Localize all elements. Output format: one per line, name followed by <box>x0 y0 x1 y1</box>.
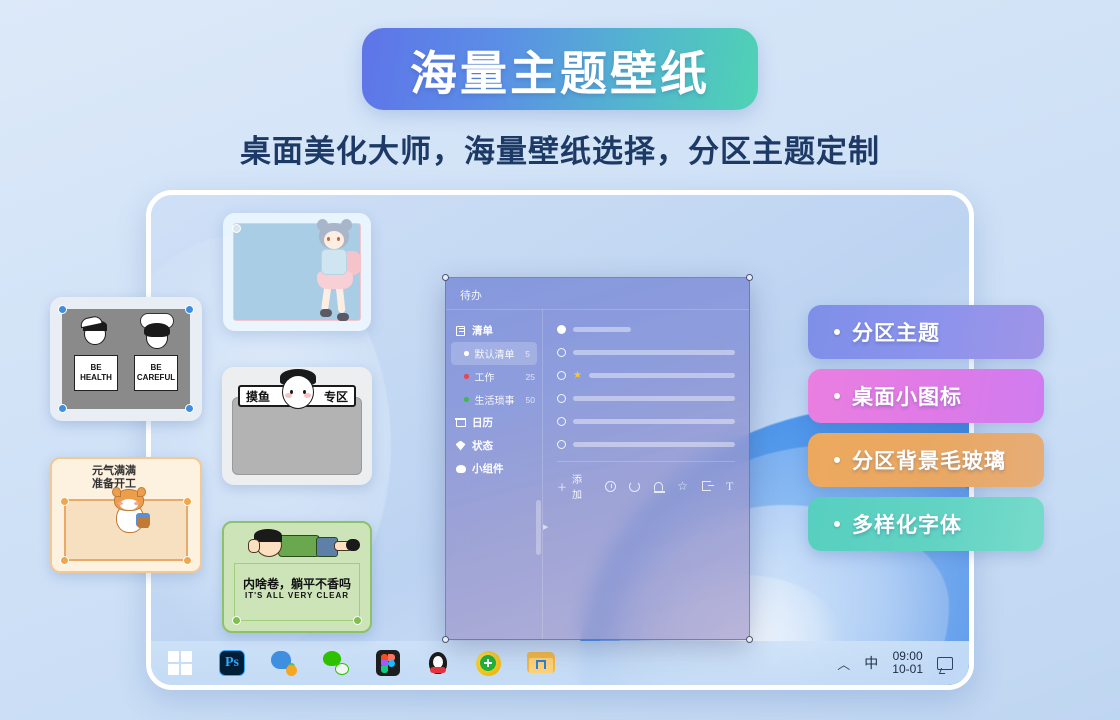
photoshop-icon[interactable]: Ps <box>219 650 245 676</box>
banner-title: 海量主题壁纸 <box>410 35 710 104</box>
moyu-right-text: 专区 <box>324 388 348 405</box>
sidebar-item-widgets[interactable]: 小组件 <box>446 457 542 480</box>
feature-pill-desktop-icons[interactable]: 桌面小图标 <box>808 369 1044 423</box>
sidebar-item-label: 日历 <box>472 415 493 430</box>
list-icon <box>455 325 466 336</box>
sticker-health-right-text: BE CAREFUL <box>134 355 178 391</box>
task-text-placeholder <box>573 442 735 447</box>
task-row[interactable] <box>557 436 735 453</box>
shiba-dog-illustration <box>110 489 150 535</box>
calendar-icon <box>455 417 466 428</box>
system-tray[interactable]: ︿ 中 09:00 10-01 <box>837 650 969 676</box>
resize-handle[interactable] <box>58 305 67 314</box>
sidebar-item-count: 5 <box>525 349 537 359</box>
list-color-dot <box>464 397 469 402</box>
photoshop-label: Ps <box>219 650 245 676</box>
sticker-anime-girl[interactable] <box>223 213 371 331</box>
sticker-tangping[interactable]: 内啥卷，躺平不香吗 IT'S ALL VERY CLEAR <box>222 521 372 633</box>
status-icon <box>455 440 466 451</box>
todo-task-list[interactable]: ★ ＋ 添加 ☆ T <box>543 309 749 639</box>
task-text-placeholder <box>573 327 631 332</box>
sidebar-item-life[interactable]: 生活琐事 50 <box>446 388 542 411</box>
star-outline-icon[interactable]: ☆ <box>677 480 688 493</box>
sidebar-item-label: 小组件 <box>472 461 504 476</box>
task-text-placeholder <box>573 350 735 355</box>
sidebar-item-status[interactable]: 状态 <box>446 434 542 457</box>
chevron-right-icon[interactable]: ▶ <box>543 523 548 531</box>
resize-handle[interactable] <box>185 305 194 314</box>
plus-icon: ＋ <box>557 479 567 494</box>
window-resize-handle[interactable] <box>442 636 449 643</box>
add-task-label: 添加 <box>572 471 585 501</box>
resize-handle[interactable] <box>353 616 362 625</box>
task-checkbox[interactable] <box>557 325 566 334</box>
sidebar-item-default-list[interactable]: 默认清单 5 <box>451 342 537 365</box>
task-row[interactable]: ★ <box>557 367 735 384</box>
windows-start-icon[interactable] <box>167 650 193 676</box>
ime-indicator[interactable]: 中 <box>864 653 878 673</box>
sidebar-item-label: 默认清单 <box>475 346 515 361</box>
anime-girl-illustration <box>307 219 365 325</box>
sticker-health-canvas: BE HEALTH BE CAREFUL <box>62 309 190 409</box>
notification-icon[interactable] <box>937 657 953 670</box>
feature-pill-label: 分区背景毛玻璃 <box>852 445 1006 475</box>
window-resize-handle[interactable] <box>442 274 449 281</box>
clock-time: 09:00 <box>893 649 923 663</box>
resize-handle[interactable] <box>232 616 241 625</box>
bullet-icon <box>834 393 840 399</box>
file-explorer-icon[interactable] <box>527 650 553 676</box>
tangping-en-text: IT'S ALL VERY CLEAR <box>224 591 370 600</box>
export-icon[interactable] <box>701 480 712 493</box>
sticker-health-left-text: BE HEALTH <box>74 355 118 391</box>
feature-pill-label: 桌面小图标 <box>852 381 962 411</box>
todo-sidebar[interactable]: 清单 默认清单 5 工作 25 生活琐事 50 日历 状态 小组件 <box>446 309 542 639</box>
green-plus-icon[interactable] <box>475 650 501 676</box>
resize-handle[interactable] <box>232 224 241 233</box>
figma-icon[interactable] <box>375 650 401 676</box>
task-row[interactable] <box>557 390 735 407</box>
task-row[interactable] <box>557 344 735 361</box>
wechat-icon[interactable] <box>323 650 349 676</box>
star-icon[interactable]: ★ <box>573 370 582 381</box>
text-format-icon[interactable]: T <box>724 480 735 493</box>
todo-window[interactable]: 待办 清单 默认清单 5 工作 25 生活琐事 50 日历 状态 <box>445 277 750 640</box>
bullet-icon <box>834 329 840 335</box>
page-subtitle: 桌面美化大师，海量壁纸选择，分区主题定制 <box>0 126 1120 171</box>
resize-handle[interactable] <box>60 497 69 506</box>
divider <box>557 461 735 462</box>
chat-app-icon[interactable] <box>271 650 297 676</box>
feature-pill-fonts[interactable]: 多样化字体 <box>808 497 1044 551</box>
widget-icon <box>455 463 466 474</box>
clock-icon[interactable] <box>605 480 616 493</box>
moyu-head <box>282 375 314 409</box>
todo-window-title: 待办 <box>460 287 482 303</box>
list-color-dot <box>464 351 469 356</box>
sidebar-item-label: 工作 <box>475 369 495 384</box>
list-color-dot <box>464 374 469 379</box>
sidebar-item-work[interactable]: 工作 25 <box>446 365 542 388</box>
task-checkbox[interactable] <box>557 371 566 380</box>
feature-pill-label: 分区主题 <box>852 317 940 347</box>
sidebar-item-label: 状态 <box>472 438 493 453</box>
tangping-cn-text: 内啥卷，躺平不香吗 <box>224 575 370 592</box>
sticker-shiba-work[interactable]: 元气满满 准备开工 <box>50 457 202 573</box>
add-task-button[interactable]: ＋ 添加 <box>557 471 585 501</box>
moyu-left-text: 摸鱼 <box>246 388 270 405</box>
scrollbar-thumb[interactable] <box>536 500 541 555</box>
sidebar-item-count: 50 <box>526 395 542 405</box>
task-row[interactable] <box>557 413 735 430</box>
chevron-up-icon[interactable]: ︿ <box>837 654 850 673</box>
sidebar-item-label: 生活琐事 <box>475 392 515 407</box>
sidebar-item-count: 25 <box>526 372 542 382</box>
feature-pill-theme[interactable]: 分区主题 <box>808 305 1044 359</box>
taskbar[interactable]: Ps <box>151 641 969 685</box>
bullet-icon <box>834 457 840 463</box>
window-resize-handle[interactable] <box>746 636 753 643</box>
tangping-illustration <box>246 529 350 567</box>
sidebar-item-lists[interactable]: 清单 <box>446 319 542 342</box>
shiba-line1: 元气满满 <box>92 465 136 477</box>
resize-handle[interactable] <box>183 556 192 565</box>
todo-toolbar[interactable]: ＋ 添加 ☆ T <box>557 471 735 501</box>
task-text-placeholder <box>589 373 735 378</box>
clock[interactable]: 09:00 10-01 <box>892 650 923 676</box>
clock-date: 10-01 <box>892 662 923 676</box>
bell-icon[interactable] <box>653 480 664 493</box>
task-text-placeholder <box>573 419 735 424</box>
task-checkbox[interactable] <box>557 348 566 357</box>
resize-handle[interactable] <box>60 556 69 565</box>
bullet-icon <box>834 521 840 527</box>
header-banner: 海量主题壁纸 <box>362 28 758 110</box>
task-checkbox[interactable] <box>557 394 566 403</box>
task-text-placeholder <box>573 396 735 401</box>
feature-pill-label: 多样化字体 <box>852 509 962 539</box>
resize-handle[interactable] <box>185 404 194 413</box>
resize-handle[interactable] <box>58 404 67 413</box>
task-checkbox[interactable] <box>557 417 566 426</box>
feature-pill-frosted-glass[interactable]: 分区背景毛玻璃 <box>808 433 1044 487</box>
sidebar-item-calendar[interactable]: 日历 <box>446 411 542 434</box>
sidebar-item-label: 清单 <box>472 323 493 338</box>
qq-icon[interactable] <box>427 650 449 676</box>
window-resize-handle[interactable] <box>746 274 753 281</box>
task-row[interactable] <box>557 321 735 338</box>
sticker-be-health[interactable]: BE HEALTH BE CAREFUL <box>50 297 202 421</box>
task-checkbox[interactable] <box>557 440 566 449</box>
sticker-moyu-zone[interactable]: 摸鱼 专区 <box>222 367 372 485</box>
repeat-icon[interactable] <box>629 480 640 493</box>
resize-handle[interactable] <box>183 497 192 506</box>
